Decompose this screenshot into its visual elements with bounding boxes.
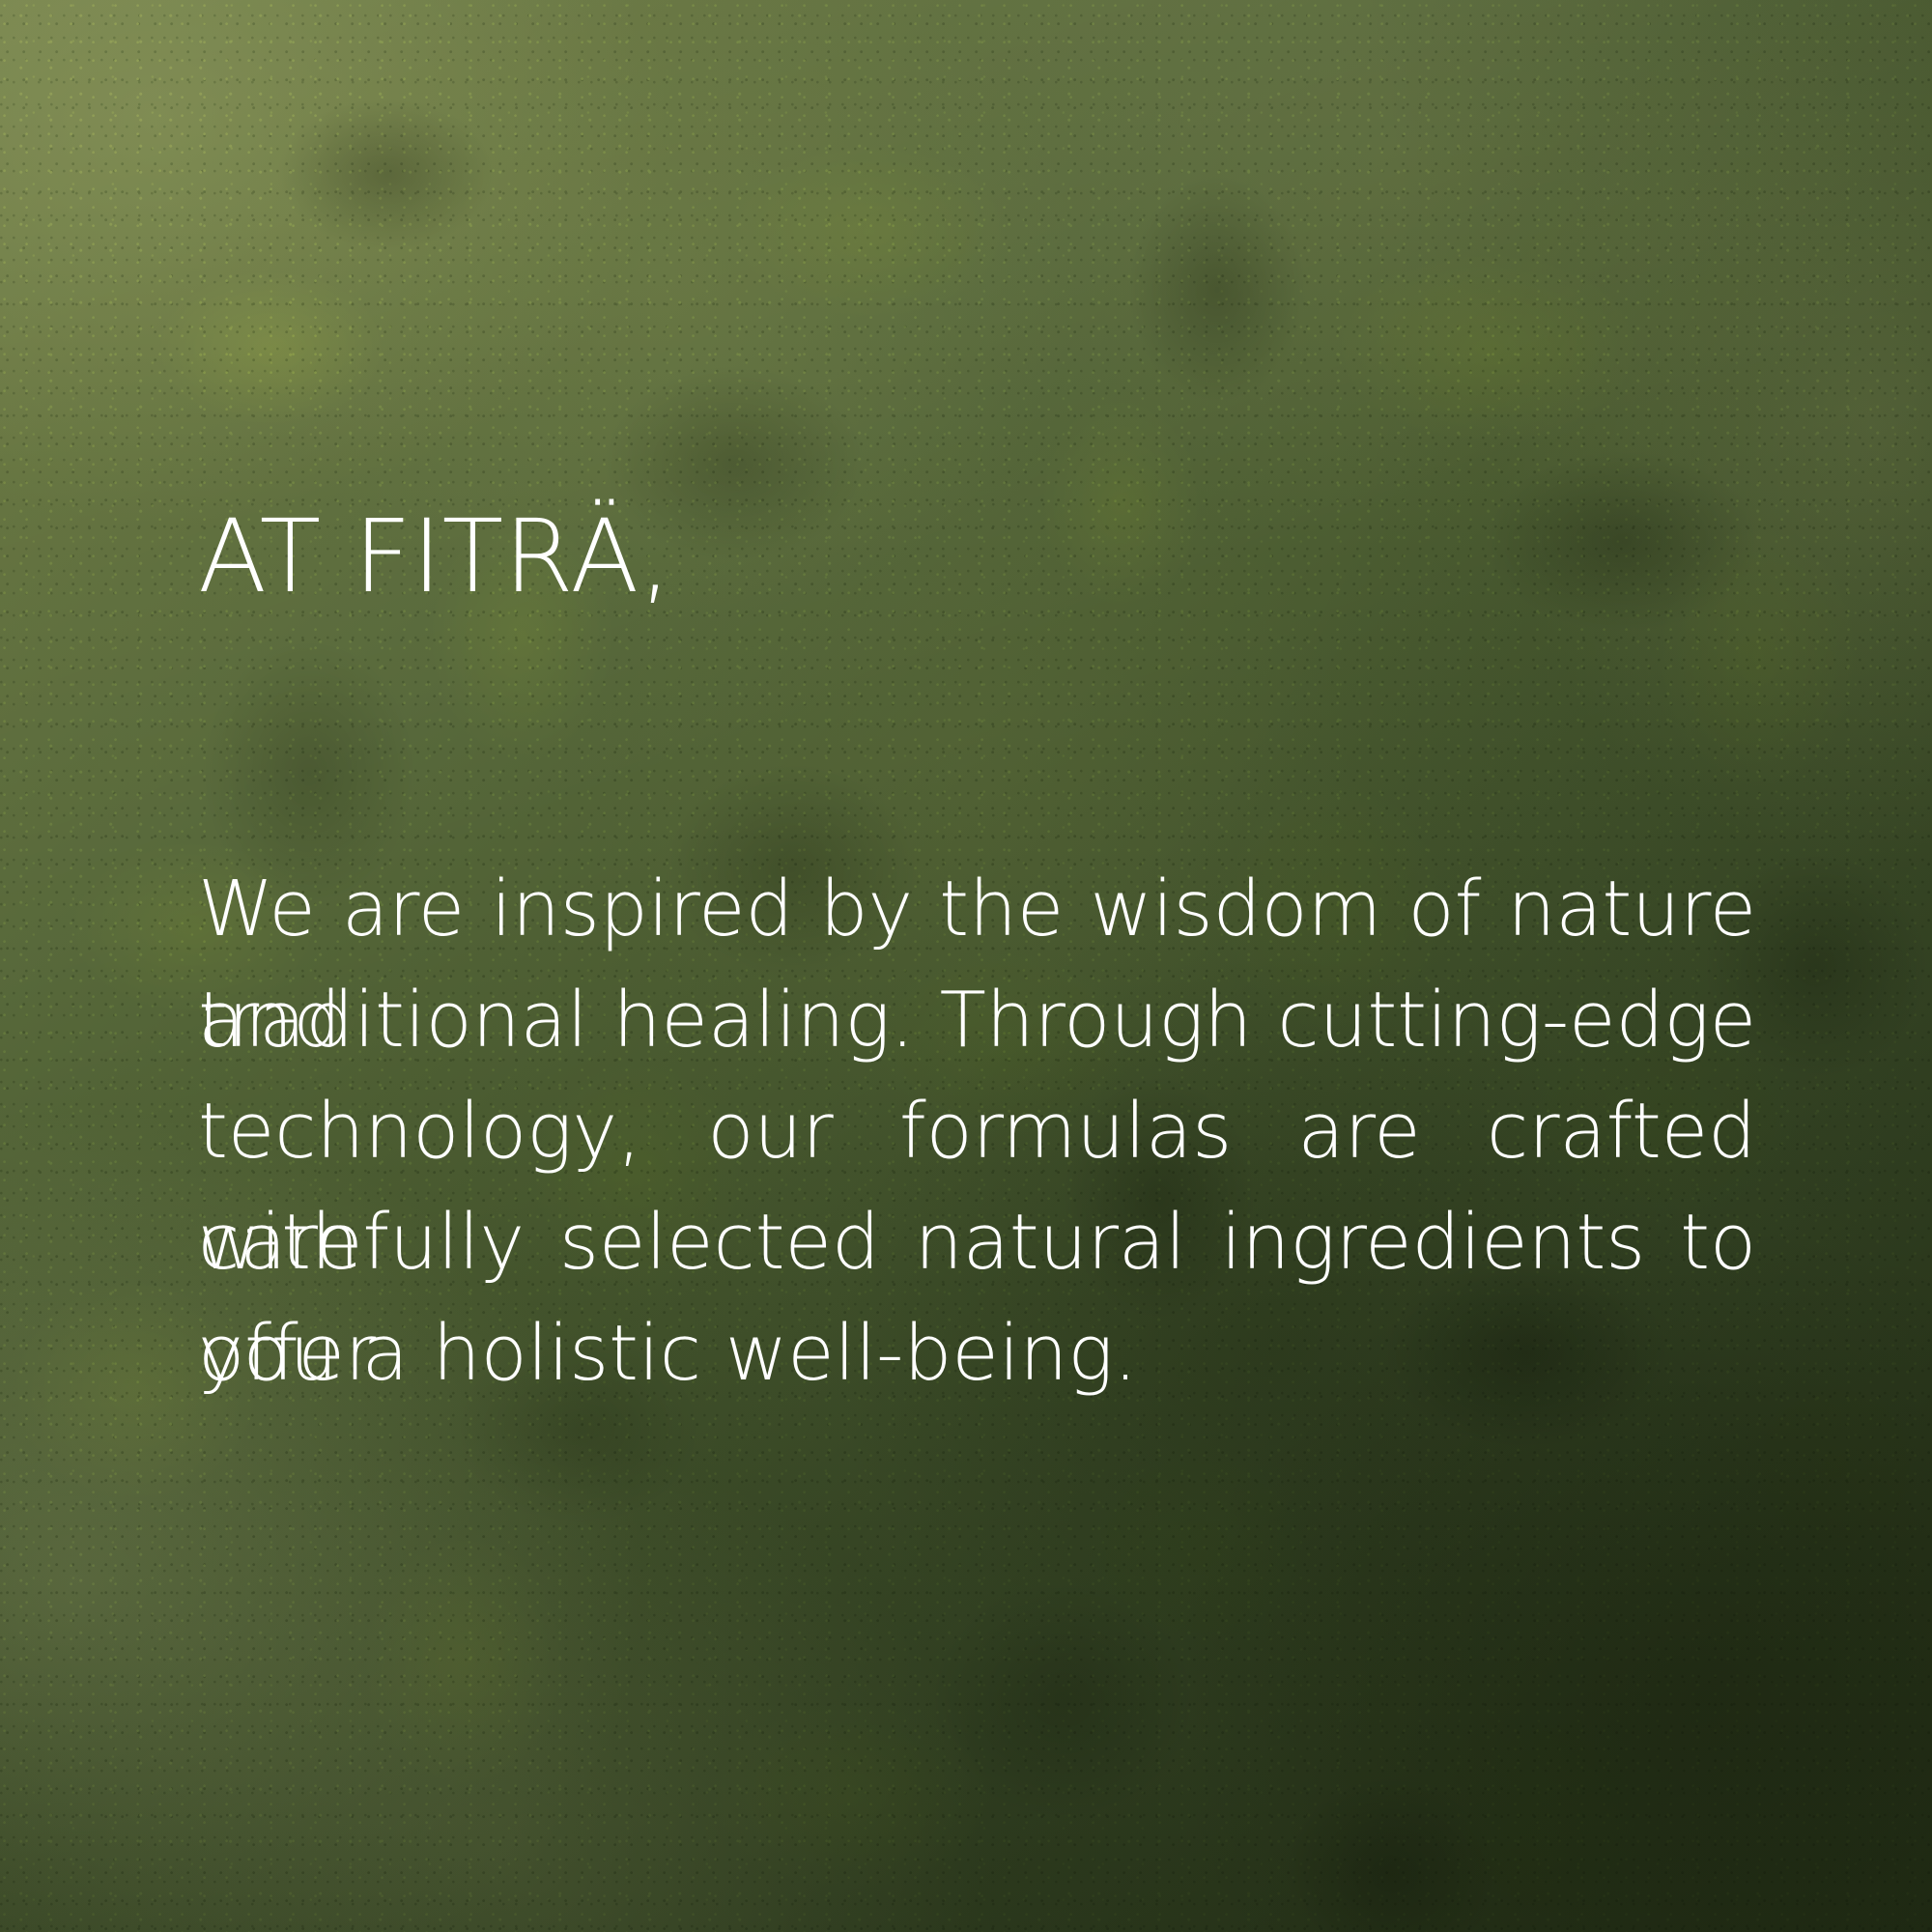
paragraph-line: traditional healing. Through cutting-edg… — [198, 965, 1756, 1076]
paragraph-line: carefully selected natural ingredients t… — [198, 1187, 1756, 1298]
promo-card: AT FITRÄ, We are inspired by the wisdom … — [0, 0, 1932, 1932]
text-content-block: AT FITRÄ, We are inspired by the wisdom … — [198, 0, 1756, 1932]
paragraph-line: technology, our formulas are crafted wit… — [198, 1076, 1756, 1187]
paragraph-line: We are inspired by the wisdom of nature … — [198, 854, 1756, 965]
brand-statement-paragraph: We are inspired by the wisdom of nature … — [198, 854, 1756, 1409]
page-title: AT FITRÄ, — [198, 506, 671, 607]
